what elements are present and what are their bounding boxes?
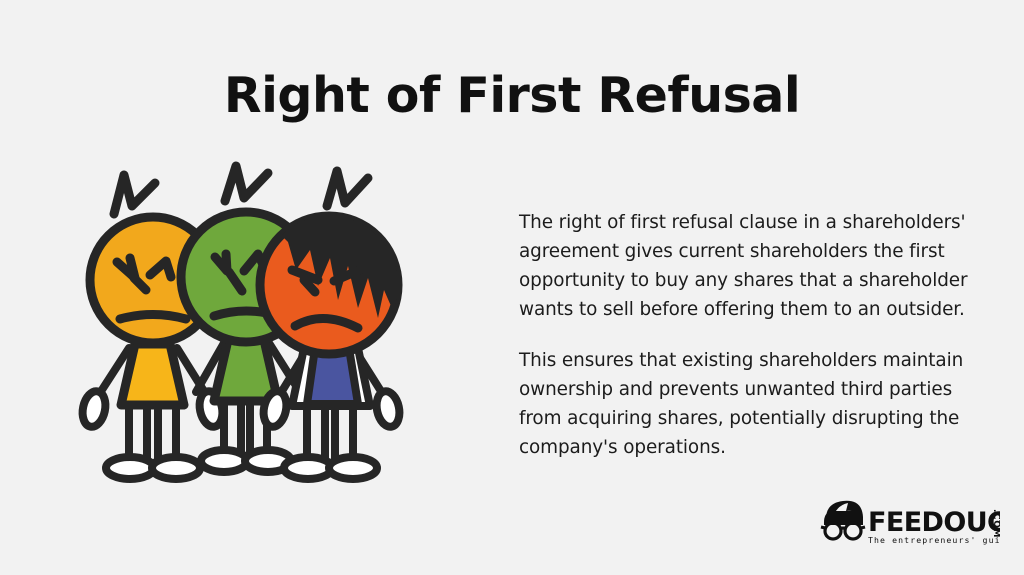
feedough-logo[interactable]: FEEDOUGH .COM The entrepreneurs' guide [818,497,1000,549]
anger-mark-center [225,166,268,201]
anger-mark-right [327,171,368,206]
shirt-left [121,344,184,405]
shoes-left [106,457,200,479]
feedough-face-icon [821,501,865,539]
infographic-canvas: Right of First Refusal [0,0,1024,575]
anger-mark-left [114,175,155,214]
page-title: Right of First Refusal [0,69,1024,124]
shoes-center [201,450,291,472]
mouth-left [120,315,186,320]
logo-wordmark: FEEDOUGH [868,507,1000,538]
body-copy: The right of first refusal clause in a s… [519,208,981,462]
legs-right [307,402,353,462]
logo-tagline: The entrepreneurs' guide [868,535,1000,545]
paragraph-2: This ensures that existing shareholders … [519,346,981,462]
logo-domain-suffix: .COM [991,509,1000,538]
shoes-right [284,457,377,479]
illustration-three-angry-shareholders [72,158,432,500]
paragraph-1: The right of first refusal clause in a s… [519,208,981,324]
